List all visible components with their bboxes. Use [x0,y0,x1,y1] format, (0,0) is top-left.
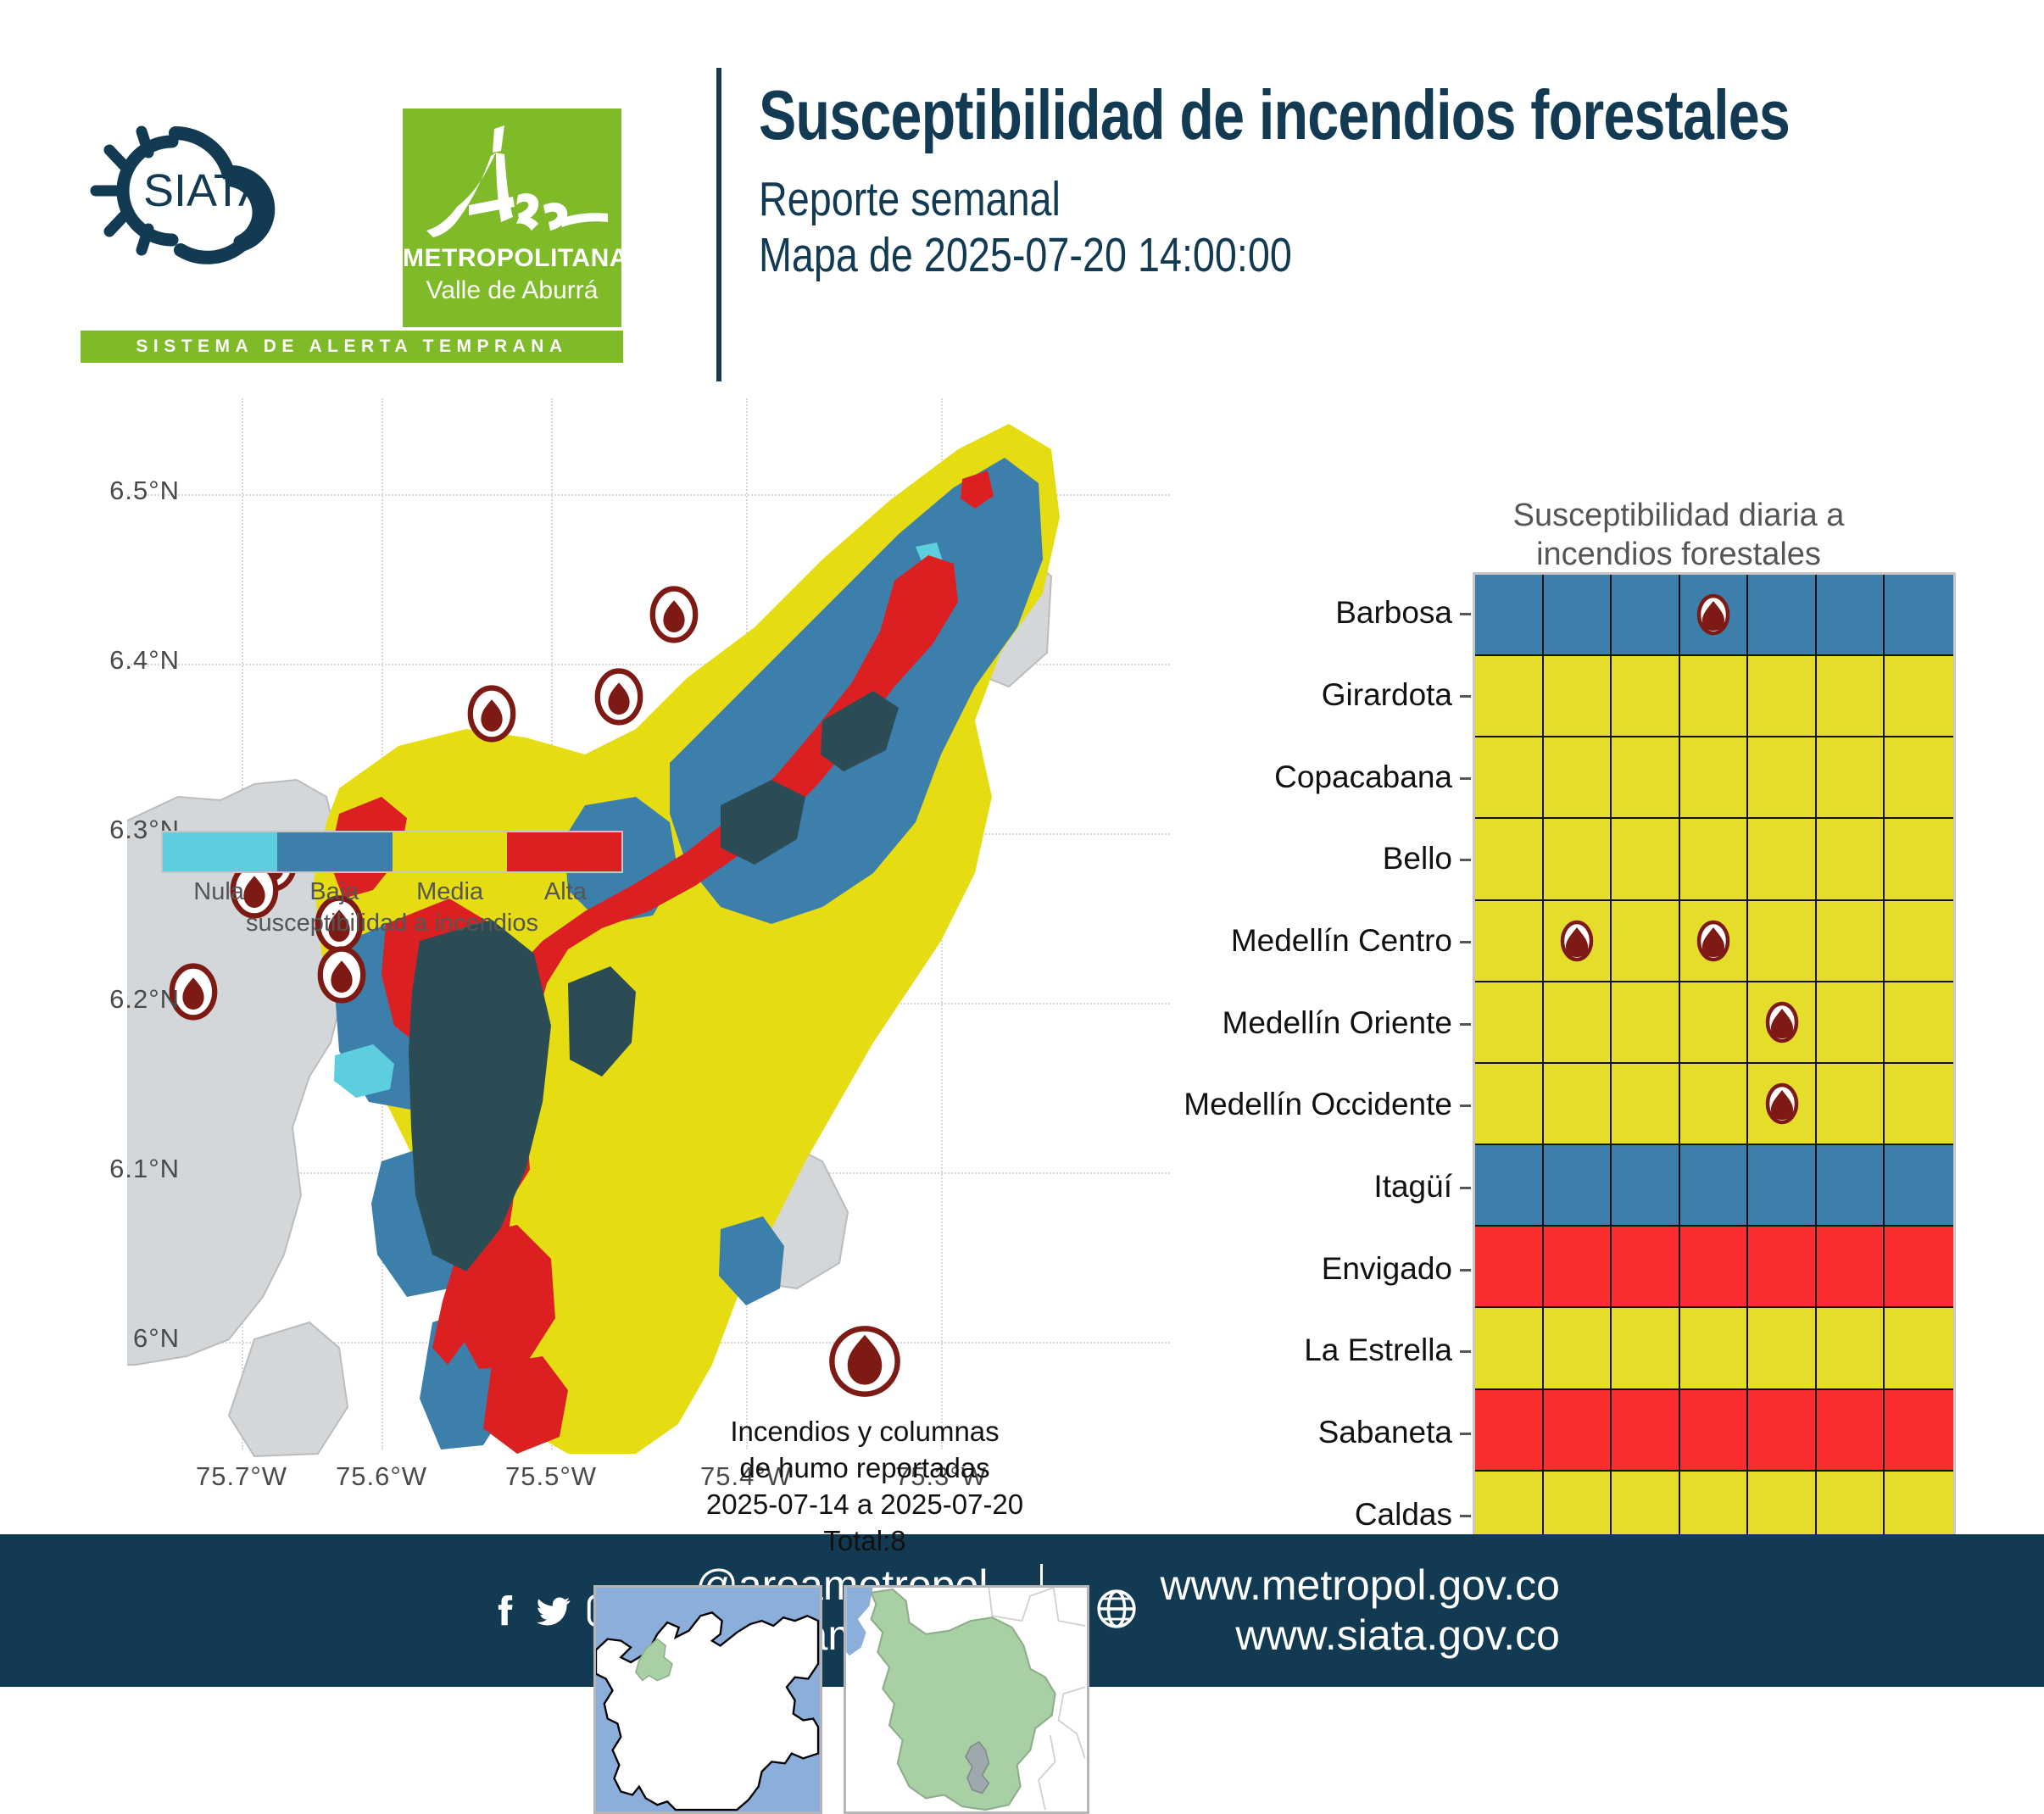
website-urls: www.metropol.gov.co www.siata.gov.co [1160,1561,1559,1661]
heatmap-y-tick [1460,1269,1471,1271]
map-legend: Nula Baja Media Alta susceptibilidad a i… [161,831,623,938]
heatmap-cell[interactable] [1612,819,1680,900]
legend-swatch-nula [163,832,277,871]
heatmap-grid[interactable] [1473,572,1956,1555]
heatmap-y-tick [1460,695,1471,698]
heatmap-cell[interactable] [1885,1390,1953,1472]
amva-line2: Valle de Aburrá [403,276,621,305]
heatmap-cell[interactable] [1680,1227,1749,1308]
heatmap-cell[interactable] [1475,1390,1544,1472]
fire-icon [826,1322,904,1400]
heatmap-cell[interactable] [1817,1227,1885,1308]
heatmap-cell[interactable] [1885,819,1953,900]
fire-note-line2: de humo reportadas [640,1450,1089,1487]
twitter-icon[interactable] [534,1591,573,1630]
legend-labels: Nula Baja Media Alta [161,878,623,906]
heatmap-cell[interactable] [1544,982,1612,1064]
heatmap-cell[interactable] [1885,901,1953,982]
fire-note-line3: 2025-07-14 a 2025-07-20 [640,1487,1089,1523]
legend-label-baja: Baja [276,878,392,906]
title-block: Susceptibilidad de incendios forestales … [759,81,2013,284]
heatmap-cell[interactable] [1885,1064,1953,1145]
heatmap-cell[interactable] [1680,1145,1749,1227]
fire-icon [1696,593,1730,636]
heatmap-cell[interactable] [1817,1145,1885,1227]
heatmap-cell[interactable] [1748,1145,1817,1227]
heatmap-y-tick [1460,1105,1471,1107]
heatmap-cell[interactable] [1544,819,1612,900]
heatmap-cell[interactable] [1748,737,1817,819]
fire-icon [1560,920,1594,962]
heatmap-y-tick [1460,1515,1471,1517]
heatmap-row-label: Sabaneta [1318,1415,1452,1450]
heatmap-cell[interactable] [1680,575,1749,656]
heatmap-cell[interactable] [1885,1145,1953,1227]
heatmap-cell[interactable] [1612,656,1680,737]
heatmap-row-label: Bello [1383,841,1452,876]
daily-susceptibility-heatmap-panel: Susceptibilidad diaria aincendios forest… [1187,398,2044,1534]
heatmap-cell[interactable] [1612,901,1680,982]
heatmap-cell[interactable] [1817,575,1885,656]
page-title: Susceptibilidad de incendios forestales [759,81,2013,149]
fire-icon [1765,1082,1799,1125]
heatmap-cell[interactable] [1612,575,1680,656]
heatmap-row-label: Barbosa [1335,595,1452,631]
heatmap-cell[interactable] [1748,1390,1817,1472]
amva-logo: METROPOLITANA Valle de Aburrá [403,109,621,327]
heatmap-cell[interactable] [1885,737,1953,819]
heatmap-cell[interactable] [1475,1227,1544,1308]
heatmap-cell[interactable] [1680,656,1749,737]
colombia-inset-map [593,1585,822,1814]
facebook-icon[interactable] [484,1591,523,1630]
legend-label-nula: Nula [161,878,276,906]
legend-colorbar [161,831,623,873]
heatmap-row-labels: BarbosaGirardotaCopacabanaBelloMedellín … [1187,572,1462,1555]
fire-report-legend: Incendios y columnas de humo reportadas … [640,1322,1089,1560]
heatmap-cell[interactable] [1817,1308,1885,1389]
siata-logo-text: SIATA [143,165,269,216]
heatmap-cell[interactable] [1544,575,1612,656]
heatmap-cell[interactable] [1544,1390,1612,1472]
legend-title: susceptibilidad a incendios [161,910,623,938]
heatmap-row-label: Envigado [1322,1251,1452,1287]
heatmap-y-tick [1460,613,1471,615]
heatmap-cell[interactable] [1885,1227,1953,1308]
amva-script-mark [403,114,621,241]
heatmap-row-label: Medellín Centro [1231,923,1452,959]
legend-swatch-baja [277,832,392,871]
heatmap-cell[interactable] [1612,982,1680,1064]
map-y-tick: 6.4°N [53,645,180,676]
heatmap-cell[interactable] [1680,1064,1749,1145]
heatmap-cell[interactable] [1544,901,1612,982]
heatmap-row-label: Itagüí [1373,1169,1452,1205]
siata-tagline: SISTEMA DE ALERTA TEMPRANA [81,331,623,363]
globe-icon [1095,1588,1138,1634]
heatmap-cell[interactable] [1885,1308,1953,1389]
heatmap-cell[interactable] [1817,737,1885,819]
legend-swatch-alta [507,832,621,871]
heatmap-y-tick [1460,1187,1471,1189]
heatmap-cell[interactable] [1475,982,1544,1064]
map-x-tick: 75.7°W [165,1461,318,1492]
heatmap-cell[interactable] [1680,819,1749,900]
map-x-tick: 75.5°W [475,1461,627,1492]
heatmap-cell[interactable] [1817,901,1885,982]
url-metropol[interactable]: www.metropol.gov.co [1160,1561,1559,1611]
heatmap-row-label: Copacabana [1274,760,1452,795]
heatmap-y-tick [1460,1023,1471,1026]
heatmap-cell[interactable] [1748,819,1817,900]
heatmap-cell[interactable] [1748,1227,1817,1308]
heatmap-cell[interactable] [1475,819,1544,900]
heatmap-row-label: Caldas [1355,1497,1452,1533]
heatmap-cell[interactable] [1475,1145,1544,1227]
subtitle-report-type: Reporte semanal [759,171,2010,227]
fire-icon [1696,920,1730,962]
heatmap-cell[interactable] [1748,901,1817,982]
heatmap-cell[interactable] [1612,1145,1680,1227]
heatmap-cell[interactable] [1885,982,1953,1064]
legend-label-media: Media [393,878,508,906]
amva-line1: METROPOLITANA [403,244,621,273]
heatmap-title-line1: Susceptibilidad diaria a [1331,496,2026,535]
heatmap-row-label: La Estrella [1304,1333,1452,1368]
url-siata[interactable]: www.siata.gov.co [1160,1611,1559,1661]
heatmap-cell[interactable] [1544,656,1612,737]
heatmap-cell[interactable] [1475,575,1544,656]
map-y-tick: 6.5°N [53,476,180,506]
map-x-tick: 75.6°W [305,1461,458,1492]
heatmap-cell[interactable] [1612,1308,1680,1389]
heatmap-y-tick [1460,941,1471,943]
heatmap-cell[interactable] [1612,1227,1680,1308]
heatmap-cell[interactable] [1817,656,1885,737]
heatmap-cell[interactable] [1748,575,1817,656]
heatmap-cell[interactable] [1680,982,1749,1064]
heatmap-row-label: Medellín Occidente [1184,1087,1452,1122]
legend-swatch-media [393,832,507,871]
heatmap-cell[interactable] [1475,901,1544,982]
heatmap-cell[interactable] [1544,1064,1612,1145]
heatmap-cell[interactable] [1817,1064,1885,1145]
siata-logo: SIATA [81,106,352,275]
web-column: www.metropol.gov.co www.siata.gov.co [1095,1561,1559,1661]
poster-root: SIATA SISTEMA DE ALERTA TEMPRANA [0,0,2044,1687]
heatmap-cell[interactable] [1680,901,1749,982]
map-y-tick: 6°N [53,1323,180,1354]
heatmap-y-tick [1460,777,1471,780]
heatmap-cell[interactable] [1748,982,1817,1064]
fire-icon [1765,1001,1799,1043]
heatmap-cell[interactable] [1680,737,1749,819]
title-divider [716,68,721,381]
heatmap-row-label: Girardota [1322,677,1452,713]
heatmap-cell[interactable] [1544,1145,1612,1227]
heatmap-y-tick [1460,1350,1471,1353]
heatmap-cell[interactable] [1680,1390,1749,1472]
legend-label-alta: Alta [508,878,623,906]
heatmap-cell[interactable] [1475,656,1544,737]
susceptibility-map-panel: Nula Baja Media Alta susceptibilidad a i… [0,398,1187,1534]
heatmap-cell[interactable] [1748,656,1817,737]
heatmap-cell[interactable] [1817,1390,1885,1472]
heatmap-cell[interactable] [1817,819,1885,900]
heatmap-title-line2: incendios forestales [1331,535,2026,574]
heatmap-title: Susceptibilidad diaria aincendios forest… [1331,496,2026,575]
heatmap-row-label: Medellín Oriente [1223,1005,1452,1041]
heatmap-cell[interactable] [1475,737,1544,819]
heatmap-cell[interactable] [1680,1308,1749,1389]
heatmap-cell[interactable] [1885,656,1953,737]
map-y-tick: 6.1°N [53,1154,180,1184]
map-y-tick: 6.2°N [53,984,180,1015]
heatmap-cell[interactable] [1885,575,1953,656]
heatmap-cell[interactable] [1544,737,1612,819]
fire-note-line1: Incendios y columnas [640,1414,1089,1450]
heatmap-cell[interactable] [1748,1064,1817,1145]
fire-note-total: Total:8 [640,1523,1089,1560]
antioquia-inset-map [844,1585,1089,1814]
header: SIATA SISTEMA DE ALERTA TEMPRANA [0,0,2044,398]
heatmap-cell[interactable] [1544,1227,1612,1308]
heatmap-y-tick [1460,1433,1471,1435]
heatmap-cell[interactable] [1475,1064,1544,1145]
heatmap-cell[interactable] [1612,737,1680,819]
heatmap-cell[interactable] [1544,1308,1612,1389]
heatmap-cell[interactable] [1475,1308,1544,1389]
heatmap-cell[interactable] [1612,1390,1680,1472]
heatmap-cell[interactable] [1748,1308,1817,1389]
heatmap-y-tick [1460,859,1471,861]
subtitle-map-datetime: Mapa de 2025-07-20 14:00:00 [759,227,2010,283]
heatmap-cell[interactable] [1612,1064,1680,1145]
heatmap-cell[interactable] [1817,982,1885,1064]
